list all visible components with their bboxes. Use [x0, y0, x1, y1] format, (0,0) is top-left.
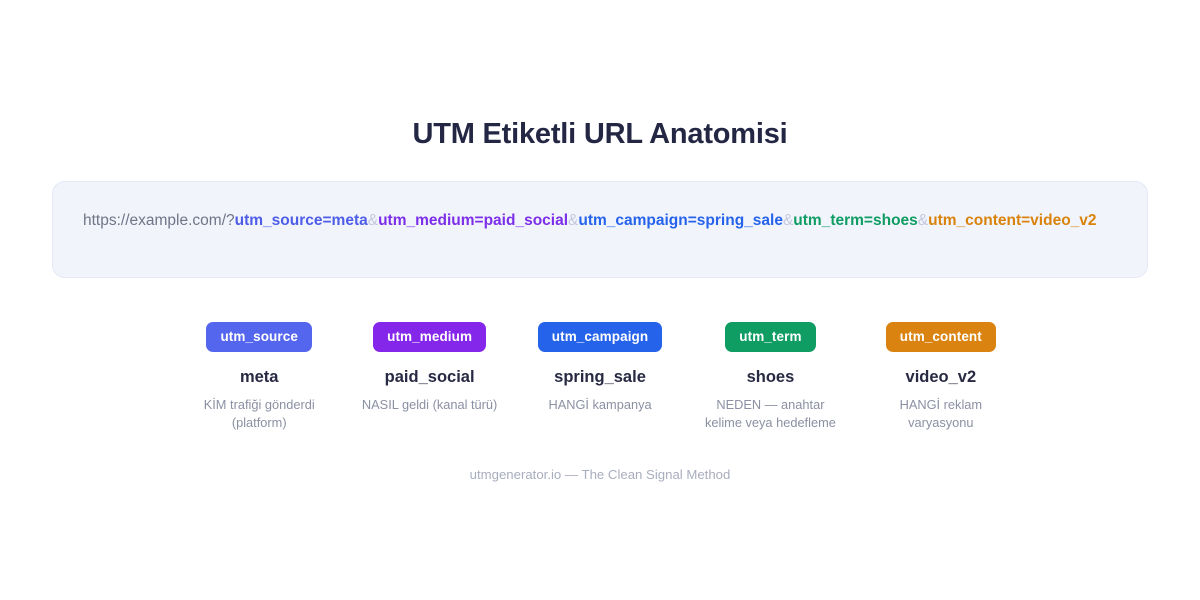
- url-segment-utm-source: utm_source=meta: [235, 212, 368, 229]
- badge-utm-campaign: utm_campaign: [538, 322, 662, 352]
- url-separator-4: &: [918, 212, 928, 229]
- url-string: https://example.com/?utm_source=meta&utm…: [83, 206, 1119, 235]
- parameter-column-utm-medium: utm_medium paid_social NASIL geldi (kana…: [344, 322, 514, 414]
- description-utm-term: NEDEN — anahtar kelime veya hedefleme: [700, 396, 840, 432]
- parameter-columns: utm_source meta KİM trafiği gönderdi (pl…: [174, 322, 1026, 432]
- description-utm-medium: NASIL geldi (kanal türü): [362, 396, 497, 414]
- parameter-column-utm-term: utm_term shoes NEDEN — anahtar kelime ve…: [685, 322, 855, 432]
- utm-anatomy-infographic: UTM Etiketli URL Anatomisi https://examp…: [0, 0, 1200, 600]
- page-title: UTM Etiketli URL Anatomisi: [0, 113, 1200, 155]
- url-example-card: https://example.com/?utm_source=meta&utm…: [52, 181, 1148, 278]
- parameter-column-utm-campaign: utm_campaign spring_sale HANGİ kampanya: [515, 322, 685, 414]
- url-separator-2: &: [568, 212, 578, 229]
- url-base: https://example.com/?: [83, 212, 235, 229]
- footer-attribution: utmgenerator.io — The Clean Signal Metho…: [0, 466, 1200, 484]
- url-segment-utm-content: utm_content=video_v2: [928, 212, 1096, 229]
- badge-utm-term: utm_term: [725, 322, 815, 352]
- url-separator-1: &: [368, 212, 378, 229]
- badge-utm-content: utm_content: [886, 322, 996, 352]
- value-utm-term: shoes: [747, 366, 795, 388]
- description-utm-content: HANGİ reklam varyasyonu: [871, 396, 1011, 432]
- url-separator-3: &: [783, 212, 793, 229]
- badge-utm-source: utm_source: [206, 322, 312, 352]
- description-utm-campaign: HANGİ kampanya: [548, 396, 651, 414]
- value-utm-campaign: spring_sale: [554, 366, 646, 388]
- value-utm-medium: paid_social: [385, 366, 475, 388]
- value-utm-source: meta: [240, 366, 279, 388]
- value-utm-content: video_v2: [906, 366, 977, 388]
- url-segment-utm-medium: utm_medium=paid_social: [378, 212, 568, 229]
- url-segment-utm-term: utm_term=shoes: [793, 212, 917, 229]
- badge-utm-medium: utm_medium: [373, 322, 486, 352]
- description-utm-source: KİM trafiği gönderdi (platform): [189, 396, 329, 432]
- parameter-column-utm-source: utm_source meta KİM trafiği gönderdi (pl…: [174, 322, 344, 432]
- url-segment-utm-campaign: utm_campaign=spring_sale: [578, 212, 783, 229]
- parameter-column-utm-content: utm_content video_v2 HANGİ reklam varyas…: [856, 322, 1026, 432]
